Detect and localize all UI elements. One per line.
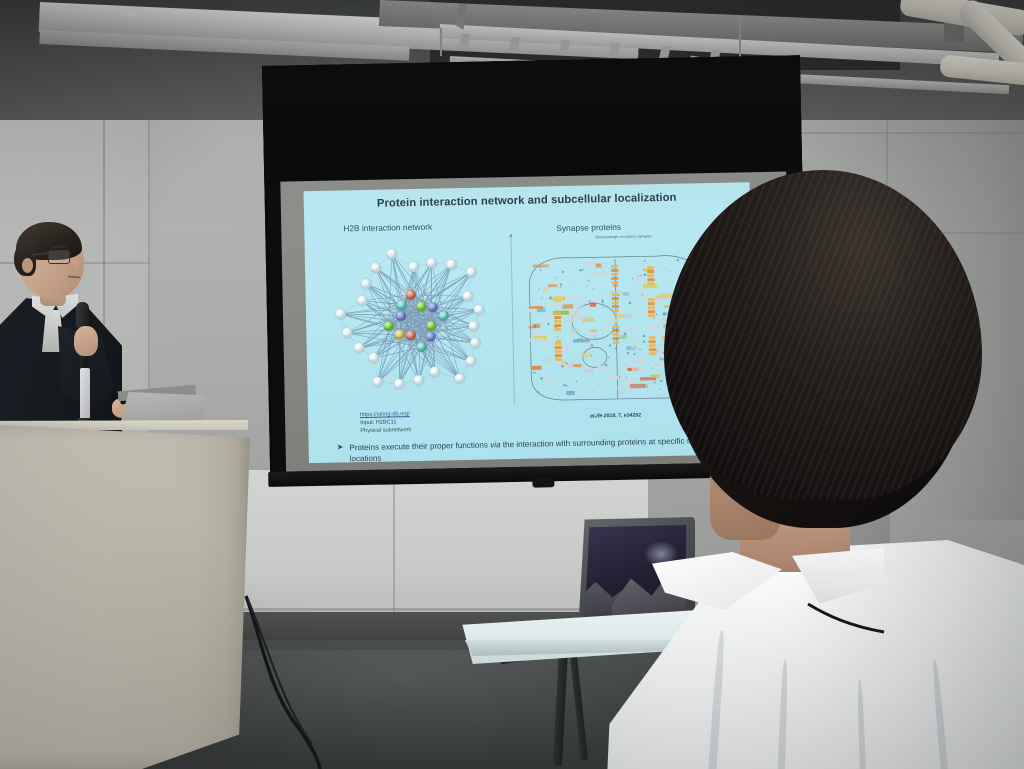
network-node (368, 353, 379, 364)
string-subnetwork-label: Physical subnetwork (360, 427, 411, 434)
pathway-node-box (543, 289, 549, 293)
pathway-connector-dot (540, 269, 542, 271)
network-node (468, 321, 479, 332)
pathway-node-box (548, 284, 557, 287)
network-node (383, 321, 393, 331)
network-node (357, 295, 368, 306)
network-node (372, 377, 383, 388)
pathway-node-box (545, 339, 553, 343)
bullet-text-italic: via (490, 440, 501, 449)
pathway-connector-dot (533, 372, 535, 374)
string-db-protein-network-graph (326, 235, 505, 408)
pathway-node-box (549, 304, 554, 307)
network-graph-svg (326, 235, 505, 408)
screen-pull-handle[interactable] (532, 478, 554, 487)
attendee-hair-texture (664, 170, 982, 500)
network-node (361, 279, 372, 290)
lectern-podium (0, 424, 250, 769)
network-node (465, 356, 476, 367)
string-db-link[interactable]: https://string-db.org/ (360, 411, 410, 418)
network-node (428, 302, 438, 312)
network-node (406, 330, 416, 340)
pathway-connector-dot (539, 288, 540, 289)
network-node (429, 366, 440, 377)
glasses-icon (48, 250, 70, 264)
network-node (413, 375, 424, 386)
pathway-node-box (546, 358, 552, 361)
network-node (462, 291, 473, 302)
pathway-node-box (529, 338, 543, 342)
network-node (438, 311, 448, 321)
network-node (454, 373, 465, 384)
network-node (394, 379, 405, 390)
network-node (354, 343, 365, 354)
pathway-connector-dot (556, 277, 557, 278)
pathway-node-box (533, 264, 549, 267)
bullet-arrow-icon: ➤ (337, 442, 344, 453)
network-node (370, 262, 381, 273)
presentation-room-photo: Protein interaction network and subcellu… (0, 0, 1024, 769)
slide-column-divider (510, 235, 514, 405)
pathway-connector-dot (547, 323, 549, 325)
pathway-node-box (554, 304, 560, 307)
network-node (470, 338, 481, 349)
network-node (342, 328, 353, 339)
wall-seam (393, 470, 395, 615)
pathway-node-box (543, 378, 555, 382)
network-node (386, 249, 397, 260)
network-node (394, 330, 404, 340)
presenter-ear (22, 258, 33, 273)
network-node (446, 259, 457, 270)
network-node (416, 301, 426, 311)
network-node (474, 304, 485, 315)
seated-attendee (560, 160, 1024, 769)
pathway-connector-dot (540, 377, 543, 380)
network-node (397, 300, 407, 310)
pathway-node-box (533, 323, 541, 328)
network-node (335, 309, 346, 320)
network-node (406, 290, 416, 300)
network-node (466, 267, 477, 278)
presenter-speaker (0, 222, 146, 437)
screen-hanger-wire (440, 28, 442, 56)
network-node (416, 342, 426, 352)
bullet-text-part1: Proteins execute their proper functions (349, 440, 490, 452)
network-node (425, 331, 435, 341)
pathway-node-box (543, 314, 548, 318)
network-node (426, 321, 436, 331)
string-input-label: Input: H2BC11 (360, 419, 396, 426)
wall-seam (800, 132, 1024, 134)
pathway-connector-dot (557, 337, 558, 338)
handheld-microphone (76, 302, 89, 328)
network-node (396, 311, 406, 321)
presenter-hand-holding-mic (74, 326, 98, 356)
network-node (426, 258, 437, 269)
pathway-connector-dot (530, 288, 531, 289)
slide-left-heading: H2B interaction network (343, 222, 432, 234)
pathway-node-box (530, 306, 543, 309)
pathway-node-box (532, 366, 542, 370)
network-node (408, 262, 419, 273)
